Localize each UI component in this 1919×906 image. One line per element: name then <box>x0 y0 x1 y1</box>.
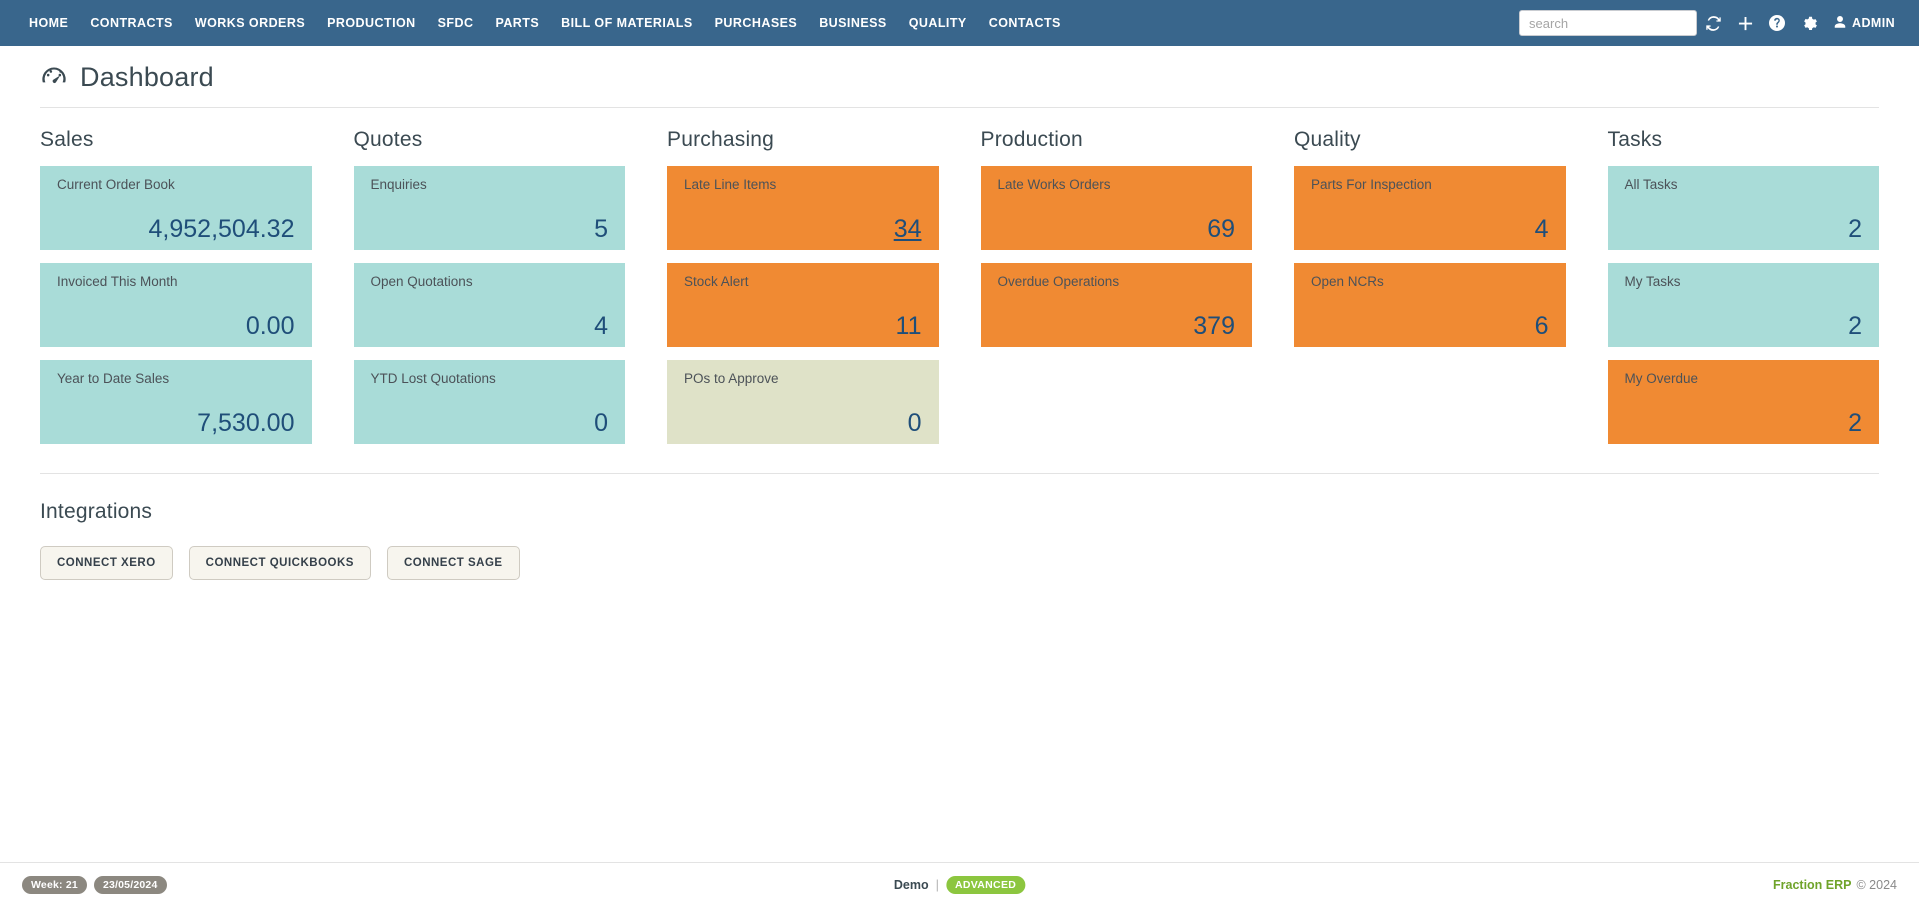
kpi-label: Open Quotations <box>371 275 612 290</box>
kpi-card-parts-for-inspection[interactable]: Parts For Inspection4 <box>1294 166 1566 250</box>
kpi-value: 7,530.00 <box>57 411 298 436</box>
column-title: Quality <box>1294 128 1566 152</box>
search-input[interactable] <box>1519 10 1697 36</box>
kpi-card-all-tasks[interactable]: All Tasks2 <box>1608 166 1880 250</box>
integration-buttons: CONNECT XEROCONNECT QUICKBOOKSCONNECT SA… <box>40 546 1879 580</box>
kpi-label: Overdue Operations <box>998 275 1239 290</box>
page-title: Dashboard <box>80 62 214 93</box>
kpi-card-current-order-book[interactable]: Current Order Book4,952,504.32 <box>40 166 312 250</box>
connect-sage-button[interactable]: CONNECT SAGE <box>387 546 520 580</box>
kpi-column-sales: SalesCurrent Order Book4,952,504.32Invoi… <box>40 128 312 457</box>
kpi-label: Open NCRs <box>1311 275 1552 290</box>
footer-center: Demo | ADVANCED <box>894 876 1025 894</box>
integrations-title: Integrations <box>40 500 1879 524</box>
column-title: Purchasing <box>667 128 939 152</box>
copyright-label: © 2024 <box>1857 878 1898 892</box>
kpi-card-open-ncrs[interactable]: Open NCRs6 <box>1294 263 1566 347</box>
kpi-card-placeholder <box>981 360 1253 444</box>
page-footer: Week: 21 23/05/2024 Demo | ADVANCED Frac… <box>0 862 1919 906</box>
dashboard-widgets: SalesCurrent Order Book4,952,504.32Invoi… <box>0 108 1919 457</box>
kpi-value: 4 <box>371 314 612 339</box>
kpi-label: Late Works Orders <box>998 178 1239 193</box>
kpi-value: 69 <box>998 217 1239 242</box>
kpi-label: Enquiries <box>371 178 612 193</box>
date-badge: 23/05/2024 <box>94 876 167 894</box>
kpi-column-tasks: TasksAll Tasks2My Tasks2My Overdue2 <box>1608 128 1880 457</box>
kpi-card-ytd-lost-quotations[interactable]: YTD Lost Quotations0 <box>354 360 626 444</box>
kpi-card-my-overdue[interactable]: My Overdue2 <box>1608 360 1880 444</box>
footer-left: Week: 21 23/05/2024 <box>22 876 167 894</box>
nav-bill-of-materials[interactable]: BILL OF MATERIALS <box>550 10 703 36</box>
kpi-label: Parts For Inspection <box>1311 178 1552 193</box>
navbar-right-tools: ADMIN <box>1519 7 1901 39</box>
nav-parts[interactable]: PARTS <box>484 10 550 36</box>
kpi-value: 2 <box>1625 314 1866 339</box>
kpi-value: 4 <box>1311 217 1552 242</box>
kpi-card-overdue-operations[interactable]: Overdue Operations379 <box>981 263 1253 347</box>
kpi-card-late-line-items[interactable]: Late Line Items34 <box>667 166 939 250</box>
nav-business[interactable]: BUSINESS <box>808 10 898 36</box>
nav-quality[interactable]: QUALITY <box>898 10 978 36</box>
column-title: Tasks <box>1608 128 1880 152</box>
kpi-value: 0 <box>684 411 925 436</box>
connect-quickbooks-button[interactable]: CONNECT QUICKBOOKS <box>189 546 371 580</box>
kpi-card-placeholder <box>1294 360 1566 444</box>
brand-label: Fraction ERP <box>1773 878 1852 892</box>
tachometer-icon <box>40 64 68 92</box>
plan-badge: ADVANCED <box>946 876 1025 894</box>
footer-right: Fraction ERP © 2024 <box>1773 878 1897 892</box>
kpi-card-enquiries[interactable]: Enquiries5 <box>354 166 626 250</box>
kpi-value: 6 <box>1311 314 1552 339</box>
nav-works-orders[interactable]: WORKS ORDERS <box>184 10 316 36</box>
kpi-label: YTD Lost Quotations <box>371 372 612 387</box>
nav-contacts[interactable]: CONTACTS <box>978 10 1072 36</box>
refresh-icon[interactable] <box>1697 7 1729 39</box>
kpi-column-production: ProductionLate Works Orders69Overdue Ope… <box>981 128 1253 457</box>
kpi-value: 5 <box>371 217 612 242</box>
environment-label: Demo <box>894 878 929 892</box>
top-navbar: HOMECONTRACTSWORKS ORDERSPRODUCTIONSFDCP… <box>0 0 1919 46</box>
kpi-label: Late Line Items <box>684 178 925 193</box>
kpi-value: 0 <box>371 411 612 436</box>
page-header: Dashboard <box>0 46 1919 93</box>
nav-production[interactable]: PRODUCTION <box>316 10 427 36</box>
column-title: Sales <box>40 128 312 152</box>
plus-icon[interactable] <box>1729 7 1761 39</box>
integrations-section: Integrations CONNECT XEROCONNECT QUICKBO… <box>0 474 1919 580</box>
user-icon <box>1833 15 1847 32</box>
admin-label: ADMIN <box>1852 16 1895 30</box>
help-icon[interactable] <box>1761 7 1793 39</box>
kpi-grid: SalesCurrent Order Book4,952,504.32Invoi… <box>40 128 1879 457</box>
kpi-label: Invoiced This Month <box>57 275 298 290</box>
week-badge: Week: 21 <box>22 876 87 894</box>
kpi-label: Year to Date Sales <box>57 372 298 387</box>
nav-sfdc[interactable]: SFDC <box>427 10 485 36</box>
kpi-card-open-quotations[interactable]: Open Quotations4 <box>354 263 626 347</box>
kpi-card-my-tasks[interactable]: My Tasks2 <box>1608 263 1880 347</box>
kpi-label: Current Order Book <box>57 178 298 193</box>
kpi-label: My Overdue <box>1625 372 1866 387</box>
kpi-column-purchasing: PurchasingLate Line Items34Stock Alert11… <box>667 128 939 457</box>
footer-separator: | <box>936 877 939 892</box>
main-nav: HOMECONTRACTSWORKS ORDERSPRODUCTIONSFDCP… <box>18 10 1072 36</box>
kpi-value: 379 <box>998 314 1239 339</box>
connect-xero-button[interactable]: CONNECT XERO <box>40 546 173 580</box>
kpi-column-quality: QualityParts For Inspection4Open NCRs6 <box>1294 128 1566 457</box>
kpi-card-late-works-orders[interactable]: Late Works Orders69 <box>981 166 1253 250</box>
kpi-value: 2 <box>1625 217 1866 242</box>
kpi-card-invoiced-this-month[interactable]: Invoiced This Month0.00 <box>40 263 312 347</box>
kpi-card-pos-to-approve[interactable]: POs to Approve0 <box>667 360 939 444</box>
kpi-value: 11 <box>684 314 925 339</box>
kpi-label: POs to Approve <box>684 372 925 387</box>
gear-icon[interactable] <box>1793 7 1825 39</box>
admin-menu[interactable]: ADMIN <box>1825 15 1901 32</box>
nav-contracts[interactable]: CONTRACTS <box>79 10 184 36</box>
kpi-card-stock-alert[interactable]: Stock Alert11 <box>667 263 939 347</box>
column-title: Quotes <box>354 128 626 152</box>
kpi-label: My Tasks <box>1625 275 1866 290</box>
kpi-label: All Tasks <box>1625 178 1866 193</box>
kpi-value[interactable]: 34 <box>684 217 925 242</box>
kpi-value: 0.00 <box>57 314 298 339</box>
kpi-card-year-to-date-sales[interactable]: Year to Date Sales7,530.00 <box>40 360 312 444</box>
nav-purchases[interactable]: PURCHASES <box>704 10 809 36</box>
column-title: Production <box>981 128 1253 152</box>
kpi-column-quotes: QuotesEnquiries5Open Quotations4YTD Lost… <box>354 128 626 457</box>
kpi-value: 4,952,504.32 <box>57 217 298 242</box>
nav-home[interactable]: HOME <box>18 10 79 36</box>
kpi-value: 2 <box>1625 411 1866 436</box>
kpi-label: Stock Alert <box>684 275 925 290</box>
